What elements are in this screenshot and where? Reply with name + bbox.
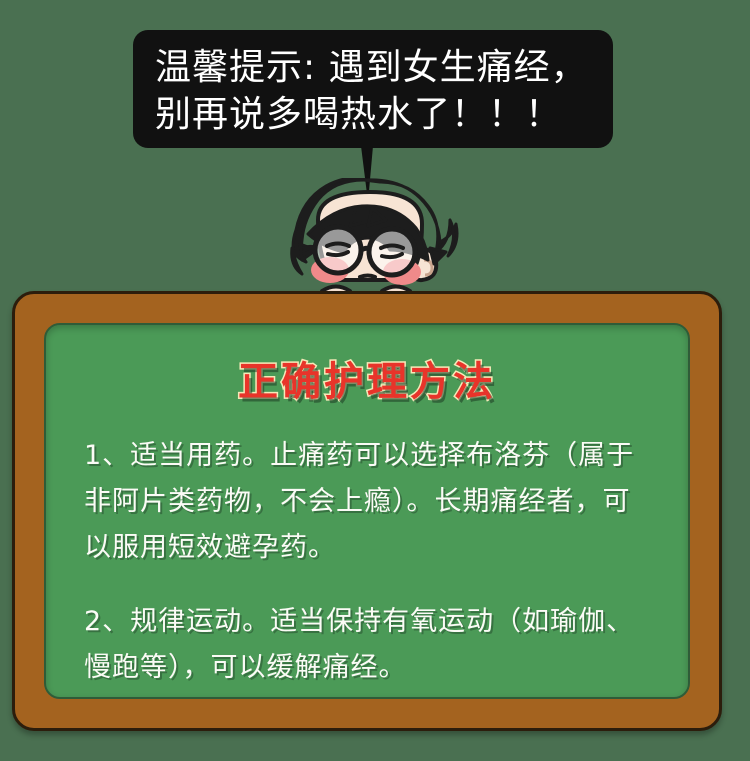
- speech-bubble-line-2: 别再说多喝热水了！！！: [155, 91, 593, 138]
- board-paragraph-1: 1、适当用药。止痛药可以选择布洛芬（属于非阿片类药物，不会上瘾）。长期痛经者，可…: [84, 433, 654, 571]
- board-paragraph-2: 2、规律运动。适当保持有氧运动（如瑜伽、慢跑等），可以缓解痛经。: [84, 599, 654, 691]
- speech-bubble-line-1: 温馨提示: 遇到女生痛经，: [155, 44, 593, 91]
- chalkboard-surface: 正确护理方法 1、适当用药。止痛药可以选择布洛芬（属于非阿片类药物，不会上瘾）。…: [44, 323, 690, 699]
- board-title: 正确护理方法: [46, 349, 688, 407]
- board-body: 1、适当用药。止痛药可以选择布洛芬（属于非阿片类药物，不会上瘾）。长期痛经者，可…: [84, 433, 654, 691]
- chalkboard-frame: 正确护理方法 1、适当用药。止痛药可以选择布洛芬（属于非阿片类药物，不会上瘾）。…: [12, 291, 722, 731]
- mouth-icon: [360, 276, 375, 278]
- speech-bubble: 温馨提示: 遇到女生痛经， 别再说多喝热水了！！！: [133, 30, 613, 148]
